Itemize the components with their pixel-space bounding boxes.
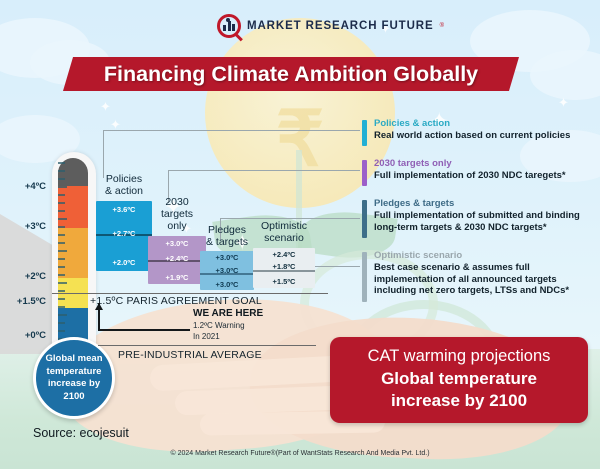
column-value-high: +3.0ºC: [200, 253, 254, 262]
cat-projection-box: CAT warming projections Global temperatu…: [330, 337, 588, 423]
legend-color-bar: [362, 160, 367, 186]
page-title: Financing Climate Ambition Globally: [63, 57, 519, 91]
registered-mark: ®: [440, 23, 444, 29]
column-value-high: +2.4ºC: [253, 250, 315, 259]
column-value-high: +3.0ºC: [148, 239, 206, 248]
legend-item-policies-and-action[interactable]: Policies & action Real world action base…: [362, 118, 570, 142]
axis-label-1-5c: +1.5ºC: [0, 296, 46, 307]
column-value-low: +1.5ºC: [253, 277, 315, 286]
connector-line: [220, 218, 360, 219]
chart-magnifier-icon: [217, 14, 241, 38]
column-title: Optimistic scenario: [253, 220, 315, 244]
legend-description: Full implementation of 2030 NDC taregets…: [374, 170, 566, 182]
cat-box-line1: CAT warming projections: [330, 344, 588, 368]
pre-industrial-line: [98, 345, 316, 346]
column-range-block: +3.6ºC +2.7ºC +2.0ºC: [96, 201, 152, 271]
column-optimistic-scenario: Optimistic scenario +2.4ºC +1.8ºC +1.5ºC: [253, 220, 315, 288]
paris-goal-line: [52, 293, 328, 294]
brand-name: MARKET RESEARCH FUTURE: [247, 20, 434, 32]
column-title: Policies & action: [96, 173, 152, 197]
column-pledges-and-targets: Pledges & targets +3.0ºC +3.0ºC +3.0ºC: [200, 224, 254, 290]
axis-label-0c: +0ºC: [0, 330, 46, 341]
pre-industrial-label: PRE-INDUSTRIAL AVERAGE: [118, 349, 262, 361]
axis-label-2c: +2ºC: [0, 271, 46, 282]
column-value-mid: +2.7ºC: [96, 229, 152, 238]
legend-description: Real world action based on current polic…: [374, 130, 570, 142]
legend-item-2030-targets-only[interactable]: 2030 targets only Full implementation of…: [362, 158, 566, 182]
axis-label-3c: +3ºC: [0, 221, 46, 232]
copyright-notice: © 2024 Market Research Future®(Part of W…: [0, 450, 600, 457]
column-value-mid: +1.8ºC: [253, 262, 315, 271]
axis-label-4c: +4ºC: [0, 181, 46, 192]
column-range-block: +3.0ºC +3.0ºC +3.0ºC: [200, 251, 254, 290]
brand-logo: MARKET RESEARCH FUTURE ®: [217, 14, 444, 38]
legend-title: Policies & action: [374, 118, 570, 129]
column-value-high: +3.6ºC: [96, 205, 152, 214]
legend-item-pledges-and-targets[interactable]: Pledges & targets Full implementation of…: [362, 198, 590, 233]
connector-line: [168, 170, 360, 171]
cat-box-line2: Global temperature: [330, 368, 588, 390]
we-are-here-line1: 1.2ºC Warning: [193, 321, 245, 330]
column-value-mid: +3.0ºC: [200, 266, 254, 275]
legend-title: Pledges & targets: [374, 198, 590, 209]
infographic-canvas: ₹ ✦ ✦ ✦ ✦ ✦ ✦ ✦ ✦ ✦ MARKET RESEARCH FUTU…: [0, 0, 600, 469]
sparkle-icon: ✦: [100, 100, 111, 113]
we-are-here-line2: In 2021: [193, 332, 220, 341]
legend-color-bar: [362, 120, 367, 146]
thermometer-bulb-label: Global mean temperature increase by 2100: [36, 353, 112, 403]
connector-line: [103, 130, 104, 178]
sparkle-icon: ✦: [558, 96, 569, 109]
legend-color-bar: [362, 252, 367, 302]
column-value-low: +2.0ºC: [96, 258, 152, 267]
column-policies-and-action: Policies & action +3.6ºC +2.7ºC +2.0ºC: [96, 173, 152, 271]
title-banner: Financing Climate Ambition Globally: [63, 57, 519, 91]
column-value-low: +3.0ºC: [200, 280, 254, 289]
we-are-here-arrow: [98, 303, 190, 331]
connector-line: [103, 130, 360, 131]
column-title: 2030 targets only: [148, 196, 206, 232]
legend-description: Full implementation of submitted and bin…: [374, 210, 590, 233]
column-range-block: +3.0ºC +2.4ºC +1.9ºC: [148, 236, 206, 284]
column-2030-targets-only: 2030 targets only +3.0ºC +2.4ºC +1.9ºC: [148, 196, 206, 284]
column-value-mid: +2.4ºC: [148, 254, 206, 263]
thermometer-ticks: [58, 158, 66, 363]
legend-item-optimistic-scenario[interactable]: Optimistic scenario Best case scenario &…: [362, 250, 590, 297]
thermometer-bulb: Global mean temperature increase by 2100: [33, 337, 115, 419]
column-title: Pledges & targets: [200, 224, 254, 248]
legend-color-bar: [362, 200, 367, 238]
cat-box-line3: increase by 2100: [330, 390, 588, 412]
legend-title: Optimistic scenario: [374, 250, 590, 261]
legend-description: Best case scenario & assumes full implem…: [374, 262, 590, 297]
source-label: Source: ecojesuit: [33, 426, 129, 440]
column-range-block: +2.4ºC +1.8ºC +1.5ºC: [253, 248, 315, 288]
legend-title: 2030 targets only: [374, 158, 566, 169]
column-value-low: +1.9ºC: [148, 273, 206, 282]
we-are-here-title: WE ARE HERE: [193, 308, 263, 319]
